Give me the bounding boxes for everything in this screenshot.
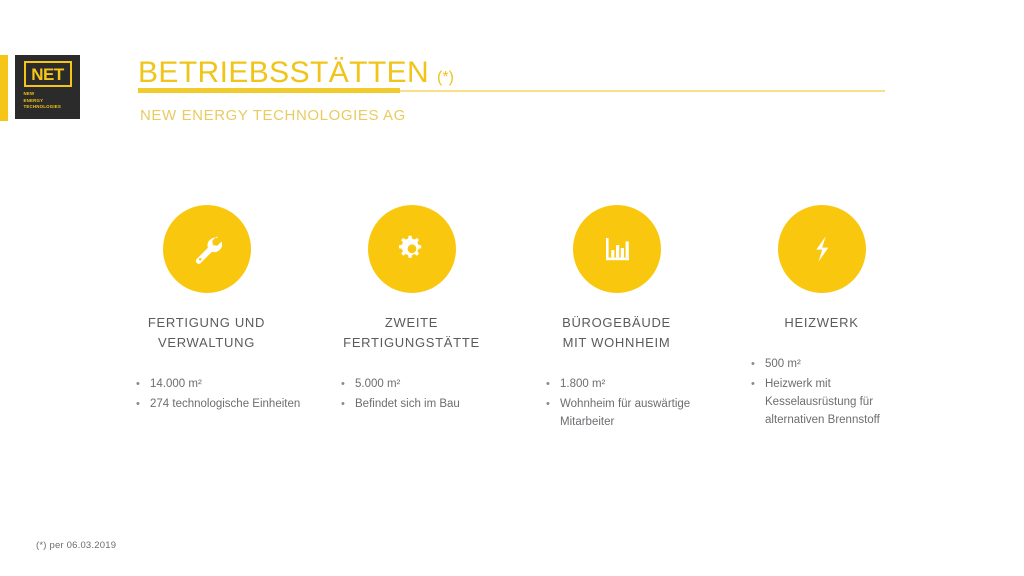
wrench-icon: [163, 205, 251, 293]
logo-subtext-line-1: NEW: [24, 91, 72, 98]
bullet-marker: •: [341, 395, 355, 413]
feature-column-bullets: • 5.000 m² • Befindet sich im Bau: [309, 375, 514, 415]
list-item: • 1.800 m²: [546, 375, 719, 393]
logo-subtext-line-3: TECHNOLOGIES: [24, 104, 72, 111]
slide-canvas: NET NEW ENERGY TECHNOLOGIES BETRIEBSSTÄT…: [0, 0, 1024, 576]
footnote: (*) per 06.03.2019: [36, 540, 116, 551]
logo-subtext: NEW ENERGY TECHNOLOGIES: [24, 91, 72, 111]
bullet-marker: •: [136, 395, 150, 413]
feature-column-bullets: • 500 m² • Heizwerk mit Kesselausrüstung…: [719, 355, 924, 431]
feature-column-heading-line-2: VERWALTUNG: [148, 333, 265, 353]
page-title: BETRIEBSSTÄTTEN (*): [138, 58, 454, 88]
bullet-text: 274 technologische Einheiten: [150, 395, 300, 413]
list-item: • 5.000 m²: [341, 375, 514, 393]
page-title-text: BETRIEBSSTÄTTEN: [138, 58, 429, 88]
feature-column-heading-line-1: FERTIGUNG UND: [148, 313, 265, 333]
lightning-bolt-icon: [778, 205, 866, 293]
feature-column-buerogebaeude-mit-wohnheim: BÜROGEBÄUDE MIT WOHNHEIM • 1.800 m² • Wo…: [514, 205, 719, 433]
bullet-marker: •: [546, 375, 560, 393]
bullet-text: Wohnheim für auswärtige Mitarbeiter: [560, 395, 712, 431]
bullet-marker: •: [136, 375, 150, 393]
company-logo: NET NEW ENERGY TECHNOLOGIES: [15, 55, 80, 119]
feature-column-heading-line-2: MIT WOHNHEIM: [562, 333, 671, 353]
bullet-text: 1.800 m²: [560, 375, 605, 393]
feature-column-bullets: • 1.800 m² • Wohnheim für auswärtige Mit…: [514, 375, 719, 433]
bullet-text: 14.000 m²: [150, 375, 202, 393]
title-underline-thin: [400, 90, 885, 92]
logo-accent-strip: [0, 55, 8, 121]
feature-column-bullets: • 14.000 m² • 274 technologische Einheit…: [104, 375, 309, 415]
bullet-text: 5.000 m²: [355, 375, 400, 393]
feature-columns: FERTIGUNG UND VERWALTUNG • 14.000 m² • 2…: [0, 205, 1024, 433]
list-item: • 500 m²: [751, 355, 924, 373]
logo-subtext-line-2: ENERGY: [24, 98, 72, 105]
list-item: • Befindet sich im Bau: [341, 395, 514, 413]
list-item: • Wohnheim für auswärtige Mitarbeiter: [546, 395, 719, 431]
feature-column-heading-line-1: ZWEITE: [343, 313, 480, 333]
feature-column-heading: BÜROGEBÄUDE MIT WOHNHEIM: [562, 313, 671, 353]
feature-column-heading-line-1: BÜROGEBÄUDE: [562, 313, 671, 333]
title-underline-thick: [138, 88, 400, 93]
logo-mark-text: NET: [31, 66, 64, 83]
bullet-text: 500 m²: [765, 355, 801, 373]
page-title-footnote-marker: (*): [437, 70, 454, 86]
bullet-marker: •: [751, 355, 765, 373]
feature-column-heading: HEIZWERK: [784, 313, 858, 333]
bullet-text: Heizwerk mit Kesselausrüstung für altern…: [765, 375, 917, 429]
feature-column-heading-line-1: HEIZWERK: [784, 313, 858, 333]
feature-column-heizwerk: HEIZWERK • 500 m² • Heizwerk mit Kessela…: [719, 205, 924, 433]
bullet-marker: •: [341, 375, 355, 393]
list-item: • 274 technologische Einheiten: [136, 395, 309, 413]
bullet-text: Befindet sich im Bau: [355, 395, 460, 413]
bullet-marker: •: [546, 395, 560, 413]
logo-mark-frame: NET: [24, 61, 72, 87]
feature-column-heading: FERTIGUNG UND VERWALTUNG: [148, 313, 265, 353]
bar-chart-icon: [573, 205, 661, 293]
gear-icon: [368, 205, 456, 293]
list-item: • 14.000 m²: [136, 375, 309, 393]
bullet-marker: •: [751, 375, 765, 393]
feature-column-zweite-fertigungstaette: ZWEITE FERTIGUNGSTÄTTE • 5.000 m² • Befi…: [309, 205, 514, 433]
page-subtitle: NEW ENERGY TECHNOLOGIES AG: [140, 108, 406, 123]
feature-column-fertigung-und-verwaltung: FERTIGUNG UND VERWALTUNG • 14.000 m² • 2…: [104, 205, 309, 433]
feature-column-heading-line-2: FERTIGUNGSTÄTTE: [343, 333, 480, 353]
list-item: • Heizwerk mit Kesselausrüstung für alte…: [751, 375, 924, 429]
feature-column-heading: ZWEITE FERTIGUNGSTÄTTE: [343, 313, 480, 353]
